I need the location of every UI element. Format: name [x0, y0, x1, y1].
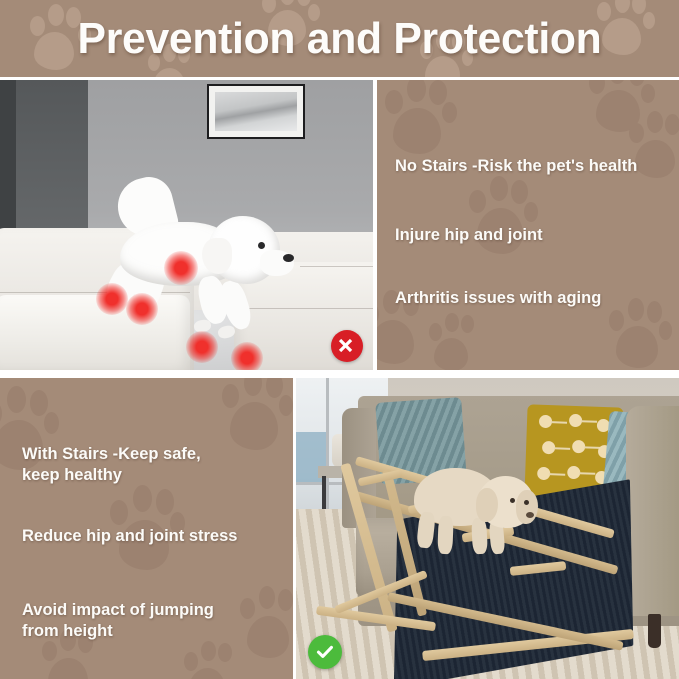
dog-eye	[524, 500, 529, 505]
page-title: Prevention and Protection	[10, 0, 669, 77]
benefit-line-1: With Stairs -Keep safe, keep healthy	[22, 444, 201, 486]
dog-eye	[510, 498, 515, 503]
paw-print-icon	[184, 640, 240, 679]
x-circle-icon	[331, 330, 363, 362]
dog-jumping-photo	[0, 80, 373, 370]
pain-marker-rear-hock	[126, 293, 158, 325]
dog-on-ramp	[414, 450, 534, 560]
benefit-line-3: Avoid impact of jumping from height	[22, 600, 214, 642]
paw-print-icon	[385, 80, 457, 158]
risk-line-2: Injure hip and joint	[395, 225, 543, 246]
risks-text-panel: No Stairs -Risk the pet's health Injure …	[377, 80, 679, 370]
dog-on-ramp-photo	[296, 378, 679, 679]
living-room-scene-2	[296, 378, 679, 679]
window-mullion	[326, 378, 329, 528]
sofa-leg	[648, 614, 661, 648]
living-room-scene	[0, 80, 373, 370]
risk-line-3: Arthritis issues with aging	[395, 288, 601, 309]
risk-line-1: No Stairs -Risk the pet's health	[395, 156, 637, 177]
benefits-text-panel: With Stairs -Keep safe, keep healthy Red…	[0, 378, 293, 679]
paw-print-icon	[609, 296, 673, 370]
paw-print-icon	[240, 584, 293, 662]
check-circle-icon	[308, 635, 342, 669]
dog-leg	[416, 511, 436, 548]
dog-leg	[471, 518, 488, 555]
paw-print-icon	[429, 312, 481, 370]
header-banner: Prevention and Protection	[0, 0, 679, 77]
dog-leg	[437, 516, 453, 555]
dog-nose	[283, 254, 294, 262]
pain-marker-front-paw	[231, 342, 263, 370]
dog-ear	[202, 238, 232, 274]
infographic-page: Prevention and Protection	[0, 0, 679, 679]
sofa-right-arm	[626, 406, 679, 616]
artwork-image	[215, 92, 297, 131]
pain-marker-rear-knee	[96, 283, 128, 315]
dog-nose	[526, 512, 534, 518]
pain-marker-hip	[164, 251, 198, 285]
sofa-seam	[300, 266, 373, 267]
paw-print-icon	[222, 378, 293, 454]
framed-artwork	[207, 84, 305, 139]
pain-marker-shoulder	[186, 331, 218, 363]
benefit-line-2: Reduce hip and joint stress	[22, 526, 237, 547]
dog-eye	[258, 242, 265, 249]
